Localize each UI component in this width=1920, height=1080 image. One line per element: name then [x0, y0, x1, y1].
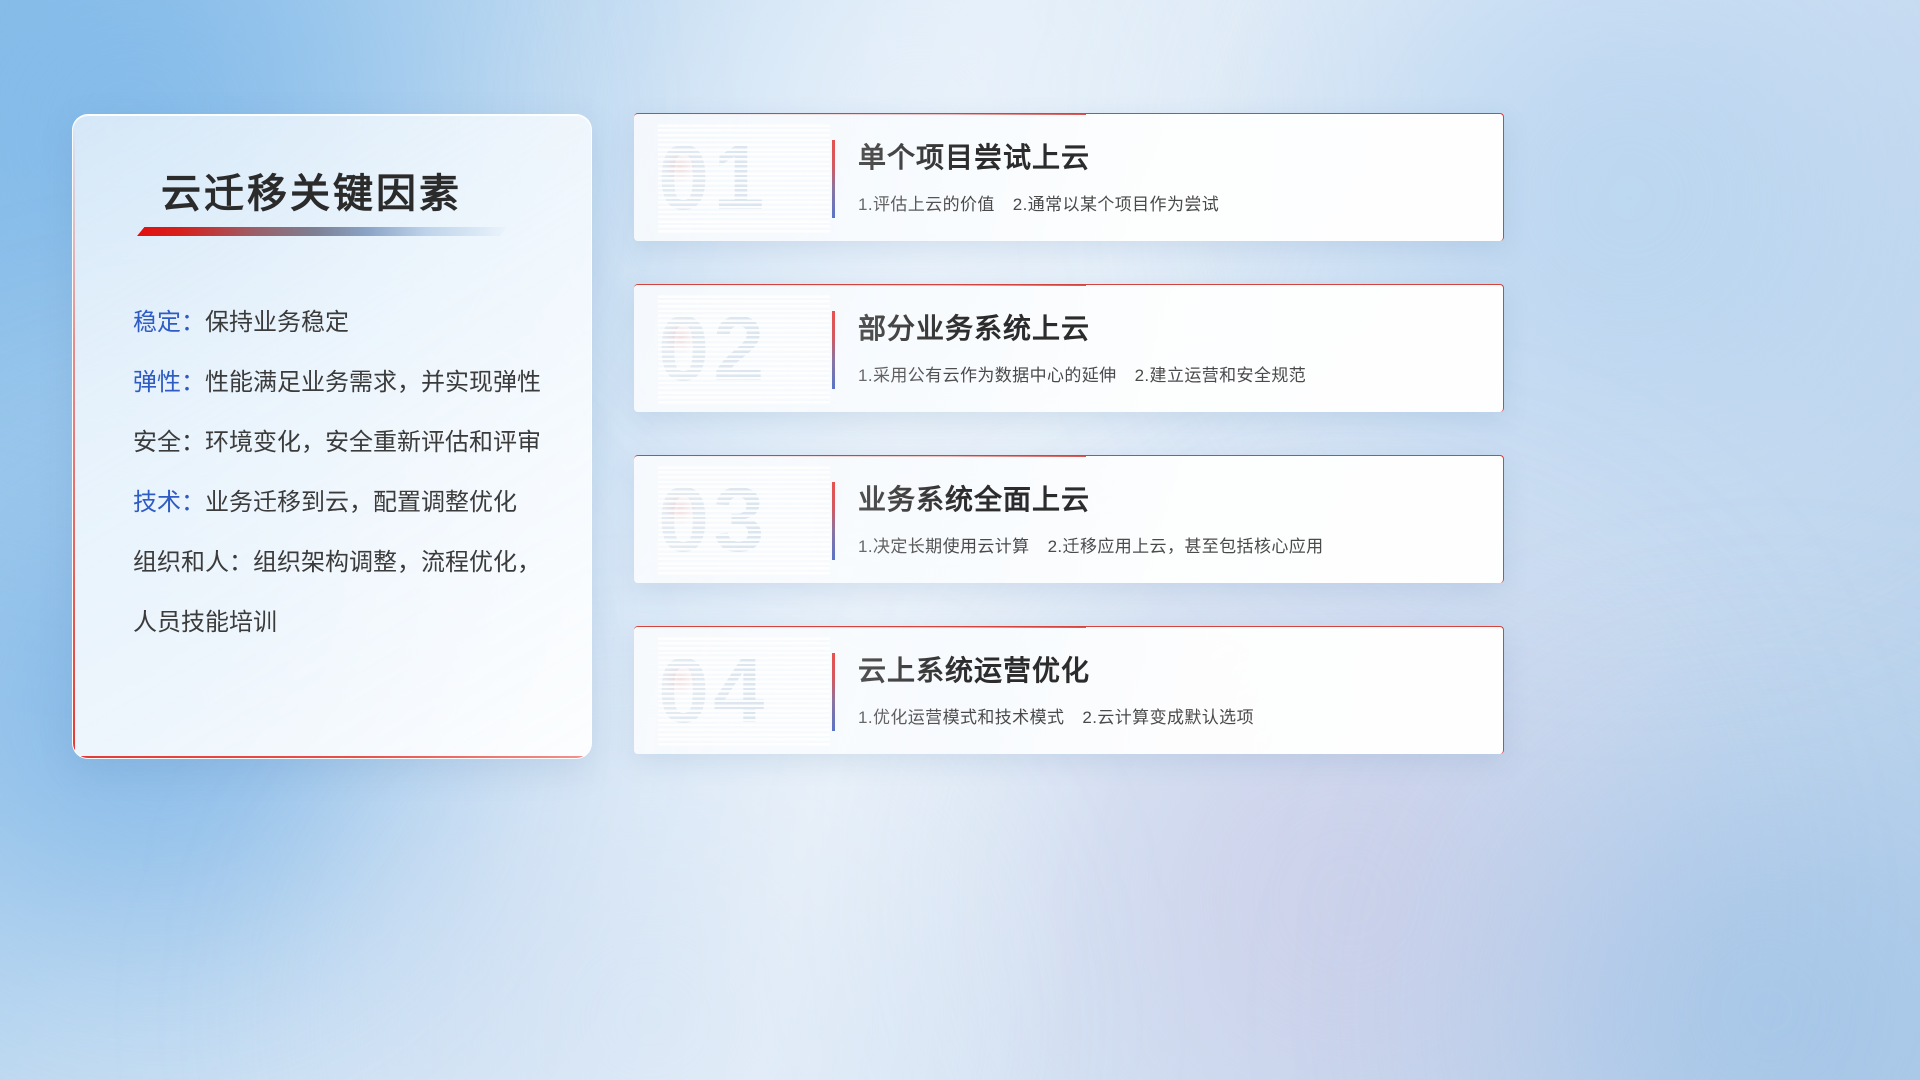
- card-top-accent: [634, 455, 1086, 457]
- card-subtitle: 1.采用公有云作为数据中心的延伸2.建立运营和安全规范: [858, 361, 1306, 386]
- stage-number-label: 04: [658, 635, 830, 747]
- key-factor-label: 弹性：: [133, 369, 205, 396]
- card-top-accent: [634, 113, 1086, 115]
- card-subtitle: 1.决定长期使用云计算2.迁移应用上云，甚至包括核心应用: [858, 532, 1324, 557]
- card-title: 业务系统全面上云: [858, 478, 1090, 518]
- title-underline-gradient: [137, 227, 507, 236]
- card-top-accent: [634, 626, 1086, 628]
- stage-number-label: 03: [658, 464, 830, 576]
- stage-number-label: 01: [658, 122, 830, 234]
- key-factor-value: 环境变化，安全重新评估和评审: [205, 429, 541, 456]
- key-factor-row: 组织和人：组织架构调整，流程优化，: [133, 551, 573, 575]
- card-title: 部分业务系统上云: [858, 307, 1090, 347]
- card-accent-bar: [832, 140, 835, 218]
- key-factor-value: 业务迁移到云，配置调整优化: [205, 489, 517, 516]
- card-top-accent: [634, 284, 1086, 286]
- key-factor-label: 组织和人：: [133, 549, 253, 576]
- key-factor-label: 稳定：: [133, 309, 205, 336]
- key-factor-row: 稳定：保持业务稳定: [133, 311, 573, 335]
- card-accent-bar: [832, 311, 835, 389]
- card-subtitle: 1.优化运营模式和技术模式2.云计算变成默认选项: [858, 703, 1254, 728]
- card-subtitle-item-2: 2.通常以某个项目作为尝试: [1013, 195, 1219, 214]
- key-factor-row: 技术：业务迁移到云，配置调整优化: [133, 491, 573, 515]
- stage-number-graphic: 04: [658, 635, 830, 747]
- key-factor-row: 人员技能培训: [133, 611, 573, 635]
- card-subtitle-item-1: 1.采用公有云作为数据中心的延伸: [858, 366, 1117, 385]
- card-title: 单个项目尝试上云: [858, 136, 1090, 176]
- key-factor-row: 弹性：性能满足业务需求，并实现弹性: [133, 371, 573, 395]
- stage-number-graphic: 02: [658, 293, 830, 405]
- key-factor-value: 组织架构调整，流程优化，: [253, 549, 541, 576]
- cloud-journey-stage-cards: 01单个项目尝试上云1.评估上云的价值2.通常以某个项目作为尝试02部分业务系统…: [634, 113, 1504, 797]
- card-subtitle-item-2: 2.迁移应用上云，甚至包括核心应用: [1048, 537, 1324, 556]
- page-title: 云迁移关键因素: [161, 161, 462, 219]
- key-factors-list: 稳定：保持业务稳定弹性：性能满足业务需求，并实现弹性安全：环境变化，安全重新评估…: [133, 311, 573, 635]
- stage-card[interactable]: 01单个项目尝试上云1.评估上云的价值2.通常以某个项目作为尝试: [634, 113, 1504, 241]
- card-subtitle-item-1: 1.评估上云的价值: [858, 195, 995, 214]
- card-title: 云上系统运营优化: [858, 649, 1090, 689]
- stage-number-label: 02: [658, 293, 830, 405]
- card-accent-bar: [832, 482, 835, 560]
- stage-card[interactable]: 04云上系统运营优化1.优化运营模式和技术模式2.云计算变成默认选项: [634, 626, 1504, 754]
- key-factor-value: 保持业务稳定: [205, 309, 349, 336]
- card-subtitle-item-1: 1.优化运营模式和技术模式: [858, 708, 1064, 727]
- card-subtitle-item-2: 2.建立运营和安全规范: [1135, 366, 1307, 385]
- card-subtitle-item-2: 2.云计算变成默认选项: [1082, 708, 1254, 727]
- key-factors-panel: 云迁移关键因素 稳定：保持业务稳定弹性：性能满足业务需求，并实现弹性安全：环境变…: [72, 114, 592, 759]
- key-factor-label: 安全：: [133, 429, 205, 456]
- key-factor-value: 性能满足业务需求，并实现弹性: [205, 369, 541, 396]
- stage-number-graphic: 01: [658, 122, 830, 234]
- card-subtitle-item-1: 1.决定长期使用云计算: [858, 537, 1030, 556]
- key-factor-row: 安全：环境变化，安全重新评估和评审: [133, 431, 573, 455]
- key-factor-label: 技术：: [133, 489, 205, 516]
- card-subtitle: 1.评估上云的价值2.通常以某个项目作为尝试: [858, 190, 1219, 215]
- key-factor-value: 人员技能培训: [133, 609, 277, 636]
- stage-card[interactable]: 03业务系统全面上云1.决定长期使用云计算2.迁移应用上云，甚至包括核心应用: [634, 455, 1504, 583]
- stage-card[interactable]: 02部分业务系统上云1.采用公有云作为数据中心的延伸2.建立运营和安全规范: [634, 284, 1504, 412]
- card-accent-bar: [832, 653, 835, 731]
- stage-number-graphic: 03: [658, 464, 830, 576]
